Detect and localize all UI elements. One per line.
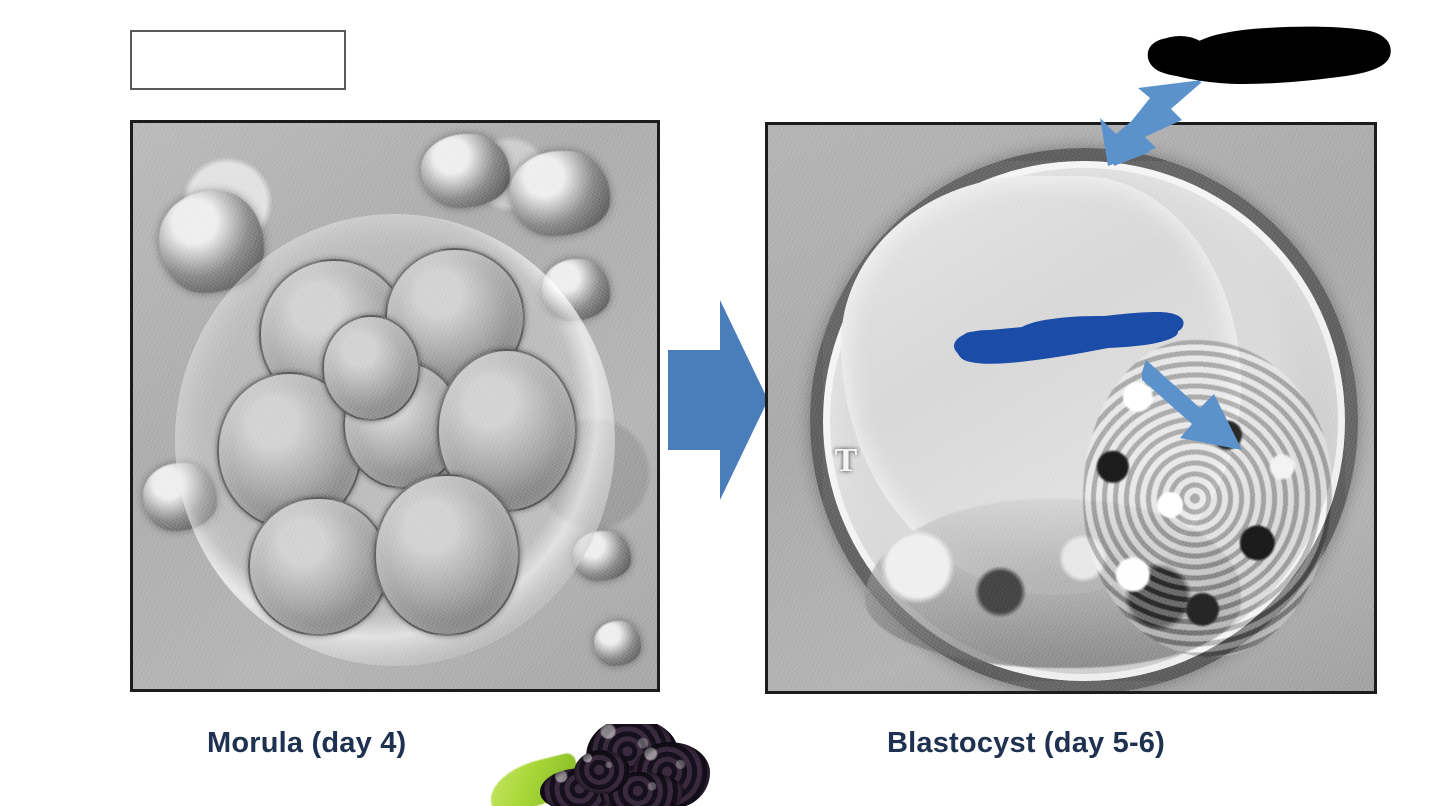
image-grain <box>765 122 1377 694</box>
pointer-arrow-inner-cell-mass <box>1142 358 1252 454</box>
blue-marker-redaction <box>948 310 1190 366</box>
caption-morula: Morula (day 4) <box>207 727 406 760</box>
morula-micrograph <box>133 123 657 689</box>
slide-canvas: T Morula (day 4) Blastocyst (day <box>0 0 1440 806</box>
blastocyst-micrograph: T <box>768 125 1374 691</box>
berry-cluster <box>574 750 630 794</box>
caption-blastocyst: Blastocyst (day 5-6) <box>887 727 1165 760</box>
transition-arrow <box>668 294 768 506</box>
empty-answer-box[interactable] <box>130 30 346 90</box>
black-marker-redaction <box>1140 22 1398 88</box>
blastocyst-image-panel: T <box>765 122 1377 694</box>
image-grain <box>130 120 660 692</box>
pointer-arrow-trophectoderm <box>1098 78 1208 168</box>
morula-image-panel <box>130 120 660 692</box>
blackberry-photo <box>482 724 710 806</box>
